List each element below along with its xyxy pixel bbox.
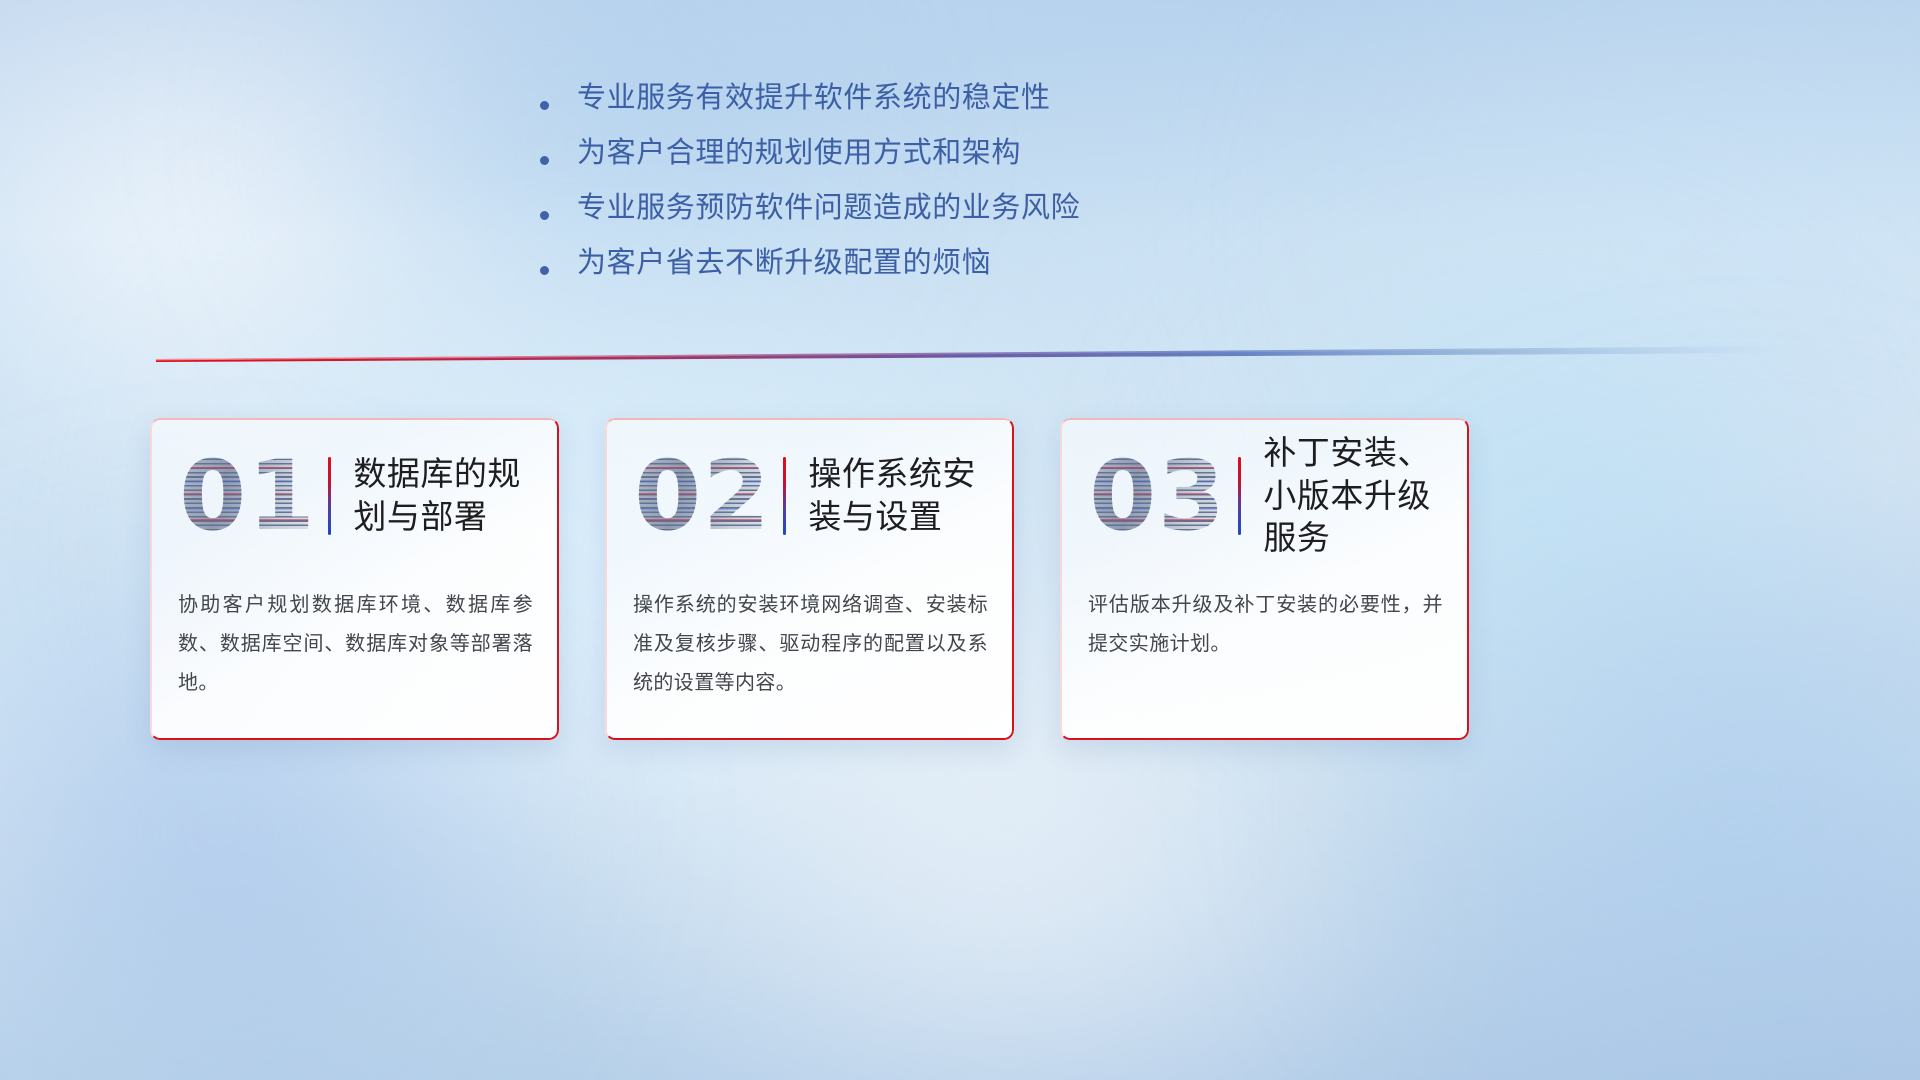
bullet-dot-icon xyxy=(540,266,549,275)
card-header: 01 01 数据库的规划与部署 xyxy=(150,436,559,556)
card-title: 补丁安装、小版本升级服务 xyxy=(1263,432,1469,561)
card-number-watermark: 01 01 xyxy=(172,441,324,551)
bullet-text: 为客户省去不断升级配置的烦恼 xyxy=(577,249,991,278)
card-header: 02 02 操作系统安装与设置 xyxy=(605,436,1014,556)
card-description: 协助客户规划数据库环境、数据库参数、数据库空间、数据库对象等部署落地。 xyxy=(178,586,533,703)
card-number-tint: 03 xyxy=(1082,441,1234,551)
card-accent-bar xyxy=(783,457,786,535)
card-number-tint: 01 xyxy=(172,441,324,551)
service-card[interactable]: 01 01 数据库的规划与部署 协助客户规划数据库环境、数据库参数、数据库空间、… xyxy=(150,418,559,740)
divider-wedge-shape xyxy=(150,345,1790,363)
list-item: 为客户合理的规划使用方式和架构 xyxy=(540,139,1440,168)
benefits-bullet-list: 专业服务有效提升软件系统的稳定性 为客户合理的规划使用方式和架构 专业服务预防软… xyxy=(540,84,1440,304)
bullet-text: 专业服务有效提升软件系统的稳定性 xyxy=(577,84,1051,113)
list-item: 专业服务预防软件问题造成的业务风险 xyxy=(540,194,1440,223)
service-card[interactable]: 02 02 操作系统安装与设置 操作系统的安装环境网络调查、安装标准及复核步骤、… xyxy=(605,418,1014,740)
card-header: 03 03 补丁安装、小版本升级服务 xyxy=(1060,436,1469,556)
card-title: 操作系统安装与设置 xyxy=(808,453,1014,539)
bullet-text: 为客户合理的规划使用方式和架构 xyxy=(577,139,1021,168)
service-card-row: 01 01 数据库的规划与部署 协助客户规划数据库环境、数据库参数、数据库空间、… xyxy=(150,418,1790,740)
list-item: 专业服务有效提升软件系统的稳定性 xyxy=(540,84,1440,113)
card-number-tint: 02 xyxy=(627,441,779,551)
bullet-dot-icon xyxy=(540,211,549,220)
card-number-watermark: 02 02 xyxy=(627,441,779,551)
card-number-watermark: 03 03 xyxy=(1082,441,1234,551)
card-accent-bar xyxy=(1238,457,1241,535)
service-card[interactable]: 03 03 补丁安装、小版本升级服务 评估版本升级及补丁安装的必要性，并提交实施… xyxy=(1060,418,1469,740)
bullet-dot-icon xyxy=(540,101,549,110)
card-description: 评估版本升级及补丁安装的必要性，并提交实施计划。 xyxy=(1088,586,1443,664)
card-title: 数据库的规划与部署 xyxy=(353,453,559,539)
card-accent-bar xyxy=(328,457,331,535)
card-description: 操作系统的安装环境网络调查、安装标准及复核步骤、驱动程序的配置以及系统的设置等内… xyxy=(633,586,988,703)
section-divider xyxy=(150,345,1790,363)
bullet-text: 专业服务预防软件问题造成的业务风险 xyxy=(577,194,1080,223)
bullet-dot-icon xyxy=(540,156,549,165)
list-item: 为客户省去不断升级配置的烦恼 xyxy=(540,249,1440,278)
